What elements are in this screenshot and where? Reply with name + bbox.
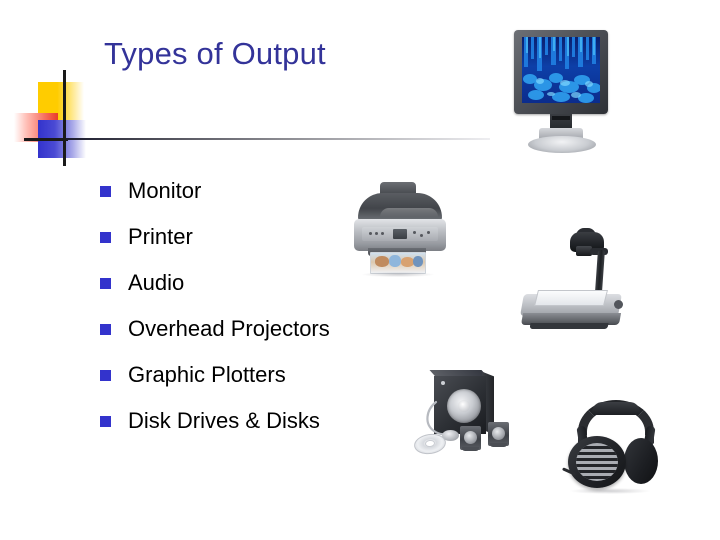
- monitor-bezel: [514, 30, 608, 114]
- list-item: Overhead Projectors: [100, 306, 440, 352]
- list-item: Graphic Plotters: [100, 352, 440, 398]
- overhead-projector-image: [518, 228, 636, 340]
- photo-detail: [413, 256, 423, 267]
- grille-slat: [576, 452, 618, 455]
- printer-shadow: [362, 272, 434, 277]
- decoration-motif: [0, 0, 130, 180]
- printer-button-icon: [413, 231, 416, 234]
- printer-button-icon: [427, 231, 430, 234]
- projector-fresnel-glass: [534, 290, 608, 306]
- projector-focus-knob: [614, 300, 623, 309]
- computer-speakers-image: [412, 368, 522, 464]
- headphone-earcup-right: [624, 438, 658, 484]
- grille-slat: [576, 446, 618, 449]
- list-item-label: Monitor: [128, 178, 201, 204]
- printed-photo: [370, 252, 426, 274]
- printer-button-icon: [381, 232, 384, 235]
- title-divider-line: [66, 138, 490, 140]
- headphones-image: [558, 398, 670, 498]
- square-bullet-icon: [100, 324, 111, 335]
- square-bullet-icon: [100, 416, 111, 427]
- grille-slat: [576, 458, 618, 461]
- list-item-label: Printer: [128, 224, 193, 250]
- headphone-headband-pad: [592, 402, 640, 415]
- headphone-shadow: [570, 488, 650, 494]
- printer-button-icon: [369, 232, 372, 235]
- headphone-grille: [576, 443, 618, 481]
- square-bullet-icon: [100, 370, 111, 381]
- inkjet-printer-image: [348, 182, 456, 282]
- list-item-label: Overhead Projectors: [128, 316, 330, 342]
- projector-foot: [529, 323, 608, 329]
- grille-slat: [576, 476, 618, 479]
- lcd-monitor-image: [508, 28, 616, 168]
- printer-lcd-display: [393, 229, 407, 239]
- decoration-vertical-line: [63, 70, 66, 166]
- printer-lid-highlight: [380, 208, 438, 217]
- square-bullet-icon: [100, 232, 111, 243]
- printer-scanner-lid: [358, 193, 442, 221]
- square-bullet-icon: [100, 186, 111, 197]
- list-item-label: Graphic Plotters: [128, 362, 286, 388]
- list-item-label: Audio: [128, 270, 184, 296]
- photo-detail: [389, 255, 401, 267]
- grille-slat: [576, 470, 618, 473]
- square-bullet-icon: [100, 278, 111, 289]
- monitor-base: [528, 136, 596, 153]
- slide-title: Types of Output: [104, 35, 504, 73]
- slide-canvas: Types of Output Monitor Printer Audio Ov…: [0, 0, 720, 540]
- monitor-screen: [522, 37, 600, 103]
- printer-button-icon: [375, 232, 378, 235]
- grille-slat: [576, 464, 618, 467]
- printer-button-icon: [420, 234, 423, 237]
- decoration-horizontal-line: [24, 138, 68, 141]
- monitor-wallpaper: [522, 37, 600, 103]
- monitor-brand-badge: [552, 116, 570, 120]
- list-item: Disk Drives & Disks: [100, 398, 440, 444]
- photo-detail: [375, 256, 389, 267]
- list-item-label: Disk Drives & Disks: [128, 408, 320, 434]
